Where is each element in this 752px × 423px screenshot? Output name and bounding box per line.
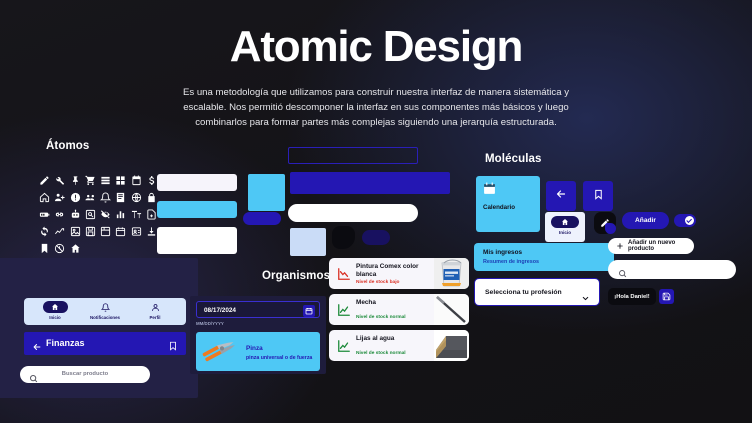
atom-navy-pill[interactable]	[362, 230, 390, 245]
calendar-icon	[483, 182, 496, 200]
clock-off-icon[interactable]	[52, 241, 67, 256]
atom-blue-pill[interactable]	[243, 212, 281, 225]
organisms-date-field[interactable]: 08/17/2024	[196, 301, 320, 318]
organisms-pinza-card[interactable]: Pinza pinza universal o de fuerza	[196, 332, 320, 371]
product-status: Nivel de stock normal	[356, 351, 406, 356]
tab-card-label: Inicio	[545, 230, 585, 235]
section-label-organisms: Organismos	[262, 270, 330, 282]
line-chart-down-icon	[337, 267, 351, 286]
search-doc-icon[interactable]	[83, 207, 98, 222]
molecule-tab-card[interactable]: Inicio	[545, 212, 585, 242]
pin-icon[interactable]	[68, 173, 83, 188]
navbar-item-perfil[interactable]: Perfil	[128, 301, 182, 320]
line-chart-up-icon	[337, 303, 351, 322]
product-name: Pintura Comex color blanca	[356, 263, 426, 278]
organisms-bottom-navbar: Inicio Notificaciones Perfil	[24, 298, 186, 325]
atom-dark-blob[interactable]	[332, 226, 355, 249]
calendar-icon[interactable]	[129, 173, 144, 188]
income-card-title: Mis ingresos	[483, 249, 522, 256]
bookmark-icon[interactable]	[168, 338, 178, 356]
product-thumbnail-sandpaper	[434, 330, 469, 361]
page-description: Es una metodología que utilizamos para c…	[176, 85, 576, 130]
molecule-profession-select[interactable]: Selecciona tu profesión	[474, 278, 600, 306]
organisms-product-list: Pintura Comex color blanca Nivel de stoc…	[329, 258, 469, 366]
product-thumbnail-paint-bucket	[434, 258, 469, 289]
organisms-search-bar[interactable]: Buscar producto	[20, 366, 150, 383]
atom-white-block[interactable]	[157, 227, 237, 254]
section-label-molecules: Moléculas	[485, 153, 542, 165]
calendar-icon[interactable]	[303, 305, 315, 317]
home-icon	[551, 216, 579, 228]
arrow-left-icon	[555, 187, 567, 205]
atoms-icon-grid	[37, 173, 159, 256]
section-label-atoms: Átomos	[46, 140, 89, 152]
product-status: Nivel de stock bajo	[356, 280, 399, 285]
product-status: Nivel de stock normal	[356, 315, 406, 320]
pinza-card-title: Pinza	[246, 345, 263, 352]
atom-cyan-bar[interactable]	[157, 201, 237, 218]
home-filled-icon[interactable]	[68, 241, 83, 256]
organisms-appbar: Finanzas	[24, 332, 186, 355]
molecule-fab-edit-button[interactable]	[594, 212, 616, 234]
atom-blue-bar[interactable]	[290, 172, 450, 194]
molecule-back-button[interactable]	[546, 181, 576, 211]
atom-pale-blue-square[interactable]	[290, 228, 326, 256]
globe-icon[interactable]	[129, 190, 144, 205]
arrow-left-icon[interactable]	[32, 339, 42, 357]
refresh-icon[interactable]	[37, 224, 52, 239]
molecule-toggle-switch[interactable]	[674, 214, 696, 227]
home-icon[interactable]	[37, 190, 52, 205]
text-size-icon[interactable]	[129, 207, 144, 222]
book-icon[interactable]	[113, 190, 128, 205]
list-item[interactable]: Lijas al agua Nivel de stock normal	[329, 330, 469, 361]
atom-white-bar[interactable]	[157, 174, 237, 191]
molecule-add-button[interactable]: Añadir	[622, 212, 669, 229]
product-name: Lijas al agua	[356, 335, 426, 343]
bookmark-icon	[593, 187, 604, 205]
calendar-card-label: Calendario	[483, 204, 515, 211]
molecule-greeting-tooltip: ¡Hola Daniel!	[608, 288, 656, 305]
list-item[interactable]: Pintura Comex color blanca Nivel de stoc…	[329, 258, 469, 289]
grid-icon[interactable]	[113, 173, 128, 188]
pinza-card-subtitle: pinza universal o de fuerza	[246, 355, 312, 361]
chevron-down-icon	[581, 290, 590, 308]
image-edit-icon[interactable]	[68, 224, 83, 239]
molecule-add-product-button[interactable]: Añadir un nuevo producto	[608, 238, 694, 254]
robot-icon[interactable]	[68, 207, 83, 222]
atom-cyan-square[interactable]	[248, 174, 285, 211]
eye-off-icon[interactable]	[98, 207, 113, 222]
search-placeholder: Buscar producto	[20, 371, 150, 377]
date-format-hint: MM/DD/YYYY	[196, 321, 224, 326]
list-icon[interactable]	[98, 173, 113, 188]
product-thumbnail-pliers	[199, 335, 241, 368]
battery-icon[interactable]	[37, 207, 52, 222]
plus-icon	[616, 237, 624, 255]
save-image-icon[interactable]	[83, 224, 98, 239]
poster-canvas: Atomic Design Es una metodología que uti…	[0, 0, 752, 423]
select-value: Selecciona tu profesión	[485, 289, 562, 296]
navbar-item-inicio[interactable]: Inicio	[28, 301, 82, 320]
toggle-knob	[685, 216, 694, 225]
navbar-label: Notificaciones	[78, 315, 132, 320]
molecule-save-button[interactable]	[659, 289, 674, 304]
alert-circle-icon[interactable]	[68, 190, 83, 205]
wrench-icon[interactable]	[52, 173, 67, 188]
molecule-bookmark-button[interactable]	[583, 181, 613, 211]
pencil-icon	[600, 218, 610, 228]
list-item[interactable]: Mecha Nivel de stock normal	[329, 294, 469, 325]
atom-outline-input[interactable]	[288, 147, 418, 164]
user-icon	[143, 301, 168, 313]
molecule-calendar-card[interactable]: Calendario	[476, 176, 540, 232]
users-icon[interactable]	[83, 190, 98, 205]
navbar-label: Inicio	[28, 315, 82, 320]
add-product-label: Añadir un nuevo producto	[628, 240, 694, 252]
bookmark-icon[interactable]	[37, 241, 52, 256]
user-add-icon[interactable]	[52, 190, 67, 205]
page-title: Atomic Design	[0, 22, 752, 72]
id-card-icon[interactable]	[129, 224, 144, 239]
bar-chart-icon[interactable]	[113, 207, 128, 222]
archive-icon[interactable]	[98, 224, 113, 239]
navbar-item-notificaciones[interactable]: Notificaciones	[78, 301, 132, 320]
molecule-income-card[interactable]: Mis ingresos Resumen de ingresos	[474, 243, 614, 271]
navbar-label: Perfil	[128, 315, 182, 320]
income-card-subtitle: Resumen de ingresos	[483, 259, 539, 265]
bell-icon	[93, 301, 118, 313]
calendar-event-icon[interactable]	[113, 224, 128, 239]
save-icon	[662, 292, 671, 301]
search-icon	[618, 265, 627, 283]
home-icon	[43, 301, 68, 313]
trend-chart-icon[interactable]	[52, 224, 67, 239]
appbar-title: Finanzas	[46, 338, 85, 348]
bell-icon[interactable]	[98, 190, 113, 205]
product-name: Mecha	[356, 299, 426, 307]
molecule-search-input[interactable]	[608, 260, 736, 279]
date-value: 08/17/2024	[204, 307, 236, 314]
product-thumbnail-drill-bit	[434, 294, 469, 325]
shopping-cart-icon[interactable]	[83, 173, 98, 188]
link-icon[interactable]	[52, 207, 67, 222]
atom-white-pill[interactable]	[288, 204, 418, 222]
line-chart-up-icon	[337, 339, 351, 358]
pencil-icon[interactable]	[37, 173, 52, 188]
